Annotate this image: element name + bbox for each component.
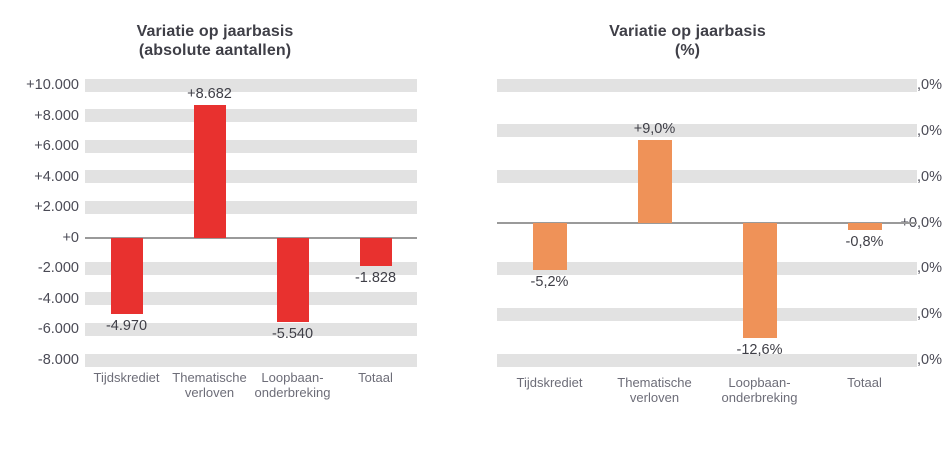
chart-title-line2: (%) [430,41,945,60]
category-line1: Thematische [617,375,691,390]
chart-panel-absolute: Variatie op jaarbasis (absolute aantalle… [0,0,430,468]
y-axis-tick-label: -2.000 [3,261,79,275]
category-line1: Loopbaan- [728,375,790,390]
grid-band [85,109,417,122]
y-axis-tick-label: -8.000 [3,353,79,367]
bar[interactable] [194,105,226,238]
bar[interactable] [277,238,309,323]
x-axis-category-label: Loopbaan-onderbreking [704,375,816,405]
grid-band [85,354,417,367]
bar[interactable] [848,223,882,230]
bar-value-label: -5.540 [238,326,348,342]
bar-value-label: -1.828 [321,270,431,286]
y-axis-tick-label: -6.000 [3,322,79,336]
category-line1: Tijdskrediet [517,375,583,390]
chart-title-percent: Variatie op jaarbasis (%) [430,22,945,60]
y-axis-tick-label: +6.000 [3,139,79,153]
category-line1: Totaal [358,370,393,385]
x-axis-category-label: Totaal [809,375,921,390]
bar[interactable] [360,238,392,266]
y-axis-tick-label: -4.000 [3,292,79,306]
x-axis-category-label: Tijdskrediet [494,375,606,390]
grid-band [497,79,917,92]
grid-band [497,308,917,321]
y-axis-tick-label: +2.000 [3,200,79,214]
y-axis-absolute: +10.000+8.000+6.000+4.000+2.000+0-2.000-… [0,85,79,360]
bar-value-label: -5,2% [495,274,605,290]
grid-band [497,170,917,183]
chart-title-line1: Variatie op jaarbasis [609,23,766,40]
chart-panel-percent: Variatie op jaarbasis (%) +15,0%+10,0%+5… [430,0,945,468]
category-line1: Loopbaan- [261,370,323,385]
y-axis-tick-label: +10.000 [3,78,79,92]
bar-value-label: +8.682 [155,86,265,102]
y-axis-tick-label: +4.000 [3,170,79,184]
category-line2: onderbreking [255,385,331,400]
category-line2: onderbreking [722,390,798,405]
dual-bar-chart-figure: Variatie op jaarbasis (absolute aantalle… [0,0,945,468]
category-line1: Tijdskrediet [94,370,160,385]
x-axis-category-label: Totaal [320,370,432,385]
bar-value-label: +9,0% [600,121,710,137]
grid-band [85,140,417,153]
bar-value-label: -12,6% [705,342,815,358]
category-line1: Totaal [847,375,882,390]
bar[interactable] [743,223,777,339]
category-line2: verloven [630,390,679,405]
chart-title-line1: Variatie op jaarbasis [137,23,294,40]
grid-band [85,201,417,214]
bar[interactable] [533,223,567,271]
chart-title-absolute: Variatie op jaarbasis (absolute aantalle… [0,22,430,60]
y-axis-tick-label: +0 [3,231,79,245]
y-axis-tick-label: +8.000 [3,109,79,123]
x-axis-category-label: Thematischeverloven [599,375,711,405]
bar[interactable] [111,238,143,314]
chart-title-line2: (absolute aantallen) [0,41,430,60]
bar-value-label: -0,8% [810,234,920,250]
bar-value-label: -4.970 [72,318,182,334]
grid-band [85,170,417,183]
bar[interactable] [638,140,672,223]
category-line2: verloven [185,385,234,400]
